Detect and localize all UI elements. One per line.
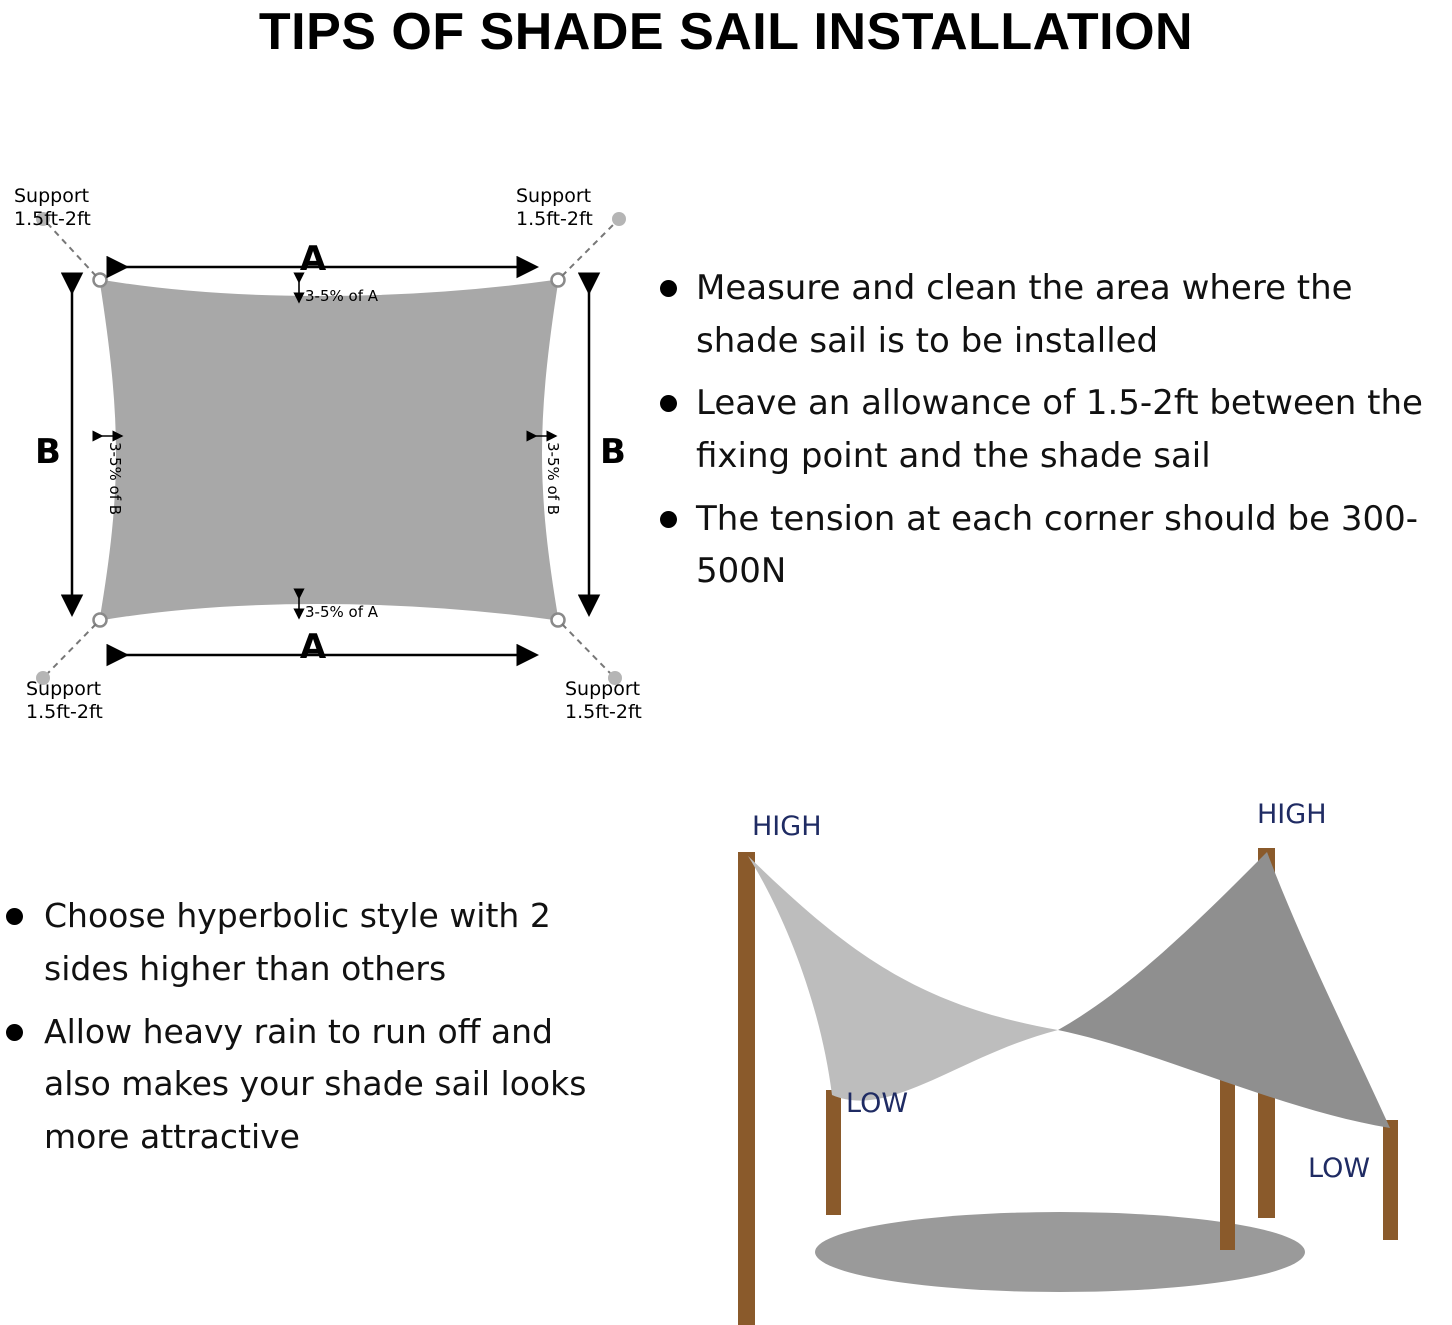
post-rear-right [1220,1080,1235,1250]
rectangular-shade-sail-dimension-diagram: Support 1.5ft-2ft Support 1.5ft-2ft Supp… [0,150,680,750]
dimension-label-top: A [300,239,327,279]
curve-depth-label-bottom: 3-5% of A [305,603,379,621]
curve-depth-label-top: 3-5% of A [305,287,379,305]
anchor-top-right [612,212,626,226]
list-item: The tension at each corner should be 300… [650,493,1450,598]
curve-depth-label-right: 3-5% of B [544,442,562,515]
support-label-top-left-line2: 1.5ft-2ft [14,208,91,230]
dimension-label-left: B [35,432,61,472]
post-left-high [738,852,755,1325]
curve-depth-label-left: 3-5% of B [106,442,124,515]
list-item: Leave an allowance of 1.5-2ft between th… [650,377,1450,482]
installation-tips-top-list: Measure and clean the area where the sha… [650,262,1450,608]
support-line-top-left [48,224,96,276]
support-label-top-left-line1: Support [14,185,89,207]
dimension-label-right: B [600,432,626,472]
support-label-bottom-right-line1: Support [565,678,640,700]
label-low-left: LOW [846,1088,908,1119]
installation-tips-bottom-list: Choose hyperbolic style with 2 sides hig… [0,890,620,1174]
support-label-bottom-right-line2: 1.5ft-2ft [565,701,642,723]
post-front-left-low [826,1090,841,1215]
support-line-bottom-left [48,624,96,673]
dimension-label-bottom: A [300,627,327,667]
support-line-top-right [562,224,614,276]
support-label-bottom-left-line1: Support [26,678,101,700]
sail-light [748,856,1058,1101]
support-label-top-right-line2: 1.5ft-2ft [516,208,593,230]
label-high-left: HIGH [752,811,822,842]
hyperbolic-shade-sail-diagram: HIGH HIGH LOW LOW [660,790,1452,1325]
list-item: Measure and clean the area where the sha… [650,262,1450,367]
list-item: Allow heavy rain to run off and also mak… [0,1006,620,1164]
support-label-bottom-left-line2: 1.5ft-2ft [26,701,103,723]
page-title: TIPS OF SHADE SAIL INSTALLATION [0,2,1452,62]
sail-shape [100,280,558,620]
label-low-right: LOW [1308,1153,1370,1184]
label-high-right: HIGH [1257,799,1327,830]
support-line-bottom-right [562,624,610,673]
list-item: Choose hyperbolic style with 2 sides hig… [0,890,620,996]
post-right-low [1383,1120,1398,1240]
support-label-top-right-line1: Support [516,185,591,207]
